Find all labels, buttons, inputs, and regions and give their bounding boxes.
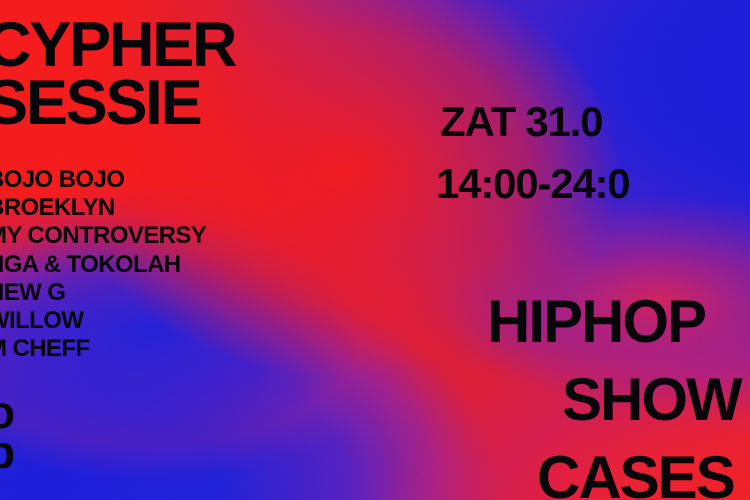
lineup-item: NGA & TOKOLAH [0,251,206,279]
showcase-line-1: HIPHOP [487,283,741,361]
artist-lineup-list: BOJO BOJO BROEKLYN MY CONTROVERSY NGA & … [0,166,206,363]
showcase-line-2: SHOW [562,361,741,439]
lineup-item: BROEKLYN [0,194,206,222]
lineup-item: M CHEFF [0,335,206,363]
event-datetime: ZAT 31.0 14:00-24:0 [440,91,629,215]
lineup-item: NEW G [0,279,206,307]
event-date: ZAT 31.0 [440,91,629,153]
lineup-item: BOJO BOJO [0,166,206,194]
showcase-line-3: CASES [537,439,741,500]
showcase-heading: HIPHOP SHOW CASES [487,283,741,500]
event-time: 14:00-24:0 [436,153,629,215]
organiser-logo: o p [0,392,13,472]
lineup-item: MY CONTROVERSY [0,222,206,250]
event-poster: CYPHER SESSIE BOJO BOJO BROEKLYN MY CONT… [0,0,750,500]
headline-line-2: SESSIE [0,74,235,132]
lineup-item: WILLOW [0,307,206,335]
poster-headline: CYPHER SESSIE [0,16,235,132]
logo-line-2: p [0,432,13,472]
headline-line-1: CYPHER [0,16,235,74]
